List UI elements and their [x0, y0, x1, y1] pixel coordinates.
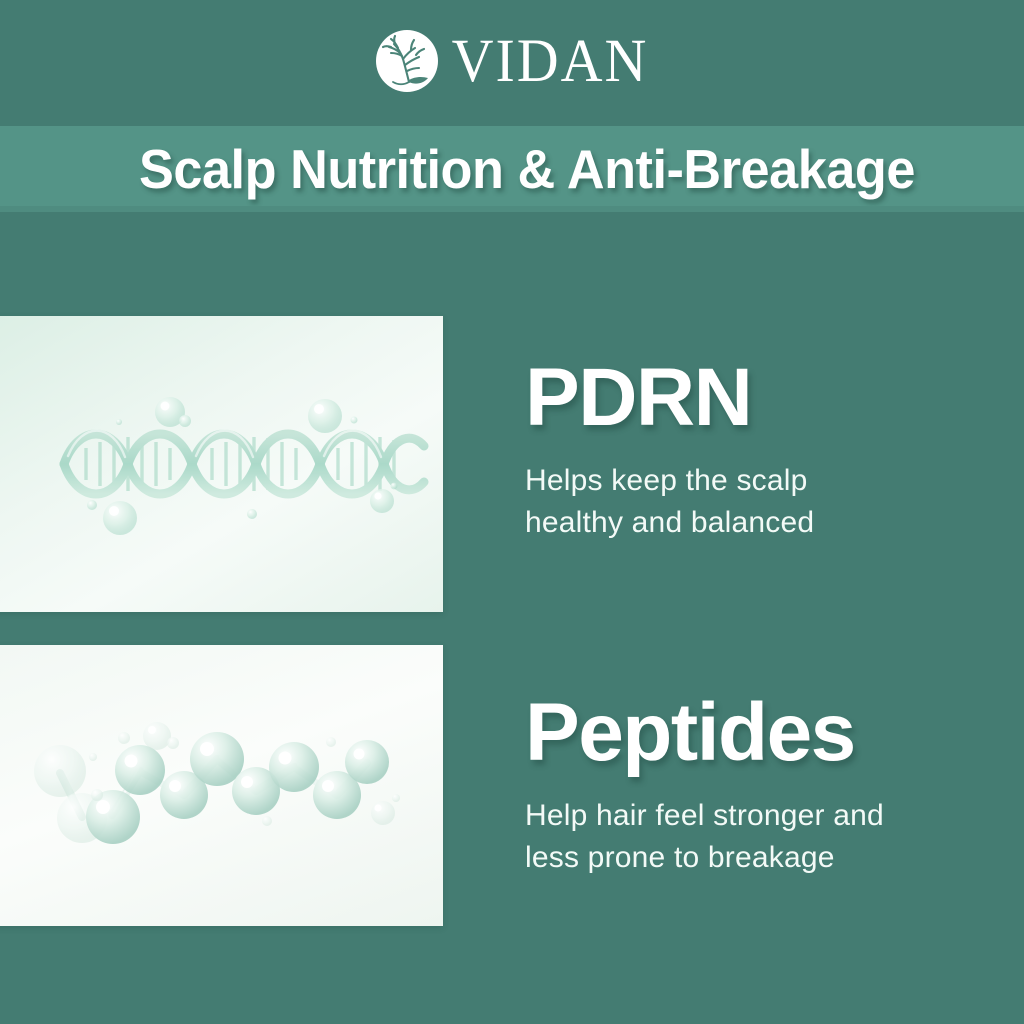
brand-wordmark: VIDAN	[452, 31, 649, 92]
feature-title-pdrn: PDRN	[525, 358, 955, 438]
feature-row-pdrn: PDRN Helps keep the scalp healthy and ba…	[0, 316, 1024, 612]
feature-description-pdrn: Helps keep the scalp healthy and balance…	[525, 460, 955, 543]
brand-header: VIDAN	[0, 0, 1024, 126]
description-line: Helps keep the scalp	[525, 460, 955, 501]
branch-leaf-icon	[376, 30, 438, 92]
promo-poster: VIDAN Scalp Nutrition & Anti-Breakage	[0, 0, 1024, 1024]
dna-helix-icon	[0, 316, 443, 612]
feature-title-peptides: Peptides	[525, 693, 955, 773]
feature-copy-pdrn: PDRN Helps keep the scalp healthy and ba…	[525, 358, 955, 543]
banner-band: Scalp Nutrition & Anti-Breakage	[0, 126, 1024, 212]
banner-title: Scalp Nutrition & Anti-Breakage	[139, 142, 915, 197]
feature-description-peptides: Help hair feel stronger and less prone t…	[525, 795, 955, 878]
description-line: less prone to breakage	[525, 837, 955, 878]
molecule-chain-icon	[0, 645, 443, 926]
logo-lockup: VIDAN	[376, 30, 649, 92]
feature-copy-peptides: Peptides Help hair feel stronger and les…	[525, 693, 955, 878]
description-line: Help hair feel stronger and	[525, 795, 955, 836]
description-line: healthy and balanced	[525, 502, 955, 543]
feature-row-peptides: Peptides Help hair feel stronger and les…	[0, 645, 1024, 926]
